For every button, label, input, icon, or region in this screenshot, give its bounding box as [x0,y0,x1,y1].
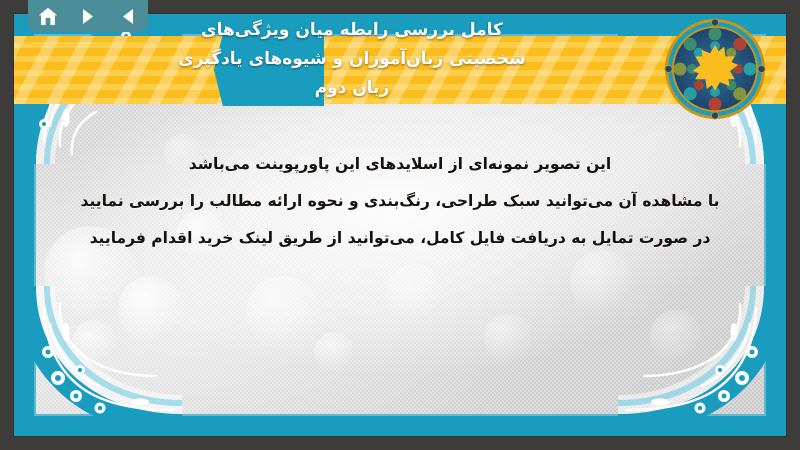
slide-navigation-bar [28,0,148,32]
presentation-viewer: کامل بررسی رابطه میان ویژگی‌های شخصیتی ز… [0,0,800,450]
slide-body-line: در صورت تمایل به دریافت فایل کامل، می‌تو… [58,220,742,257]
slide-body-text: این تصویر نمونه‌ای از اسلایدهای این پاور… [58,146,742,257]
slide-body-line: با مشاهده آن می‌توانید سبک طراحی، رنگ‌بن… [58,183,742,220]
triangle-left-icon [120,8,136,25]
next-slide-button[interactable] [75,4,101,28]
triangle-right-icon [80,8,96,25]
slide-canvas: کامل بررسی رابطه میان ویژگی‌های شخصیتی ز… [14,14,786,436]
slide-body-line: این تصویر نمونه‌ای از اسلایدهای این پاور… [58,146,742,183]
home-button[interactable] [35,4,61,28]
previous-slide-button[interactable] [115,4,141,28]
home-icon [38,7,58,26]
